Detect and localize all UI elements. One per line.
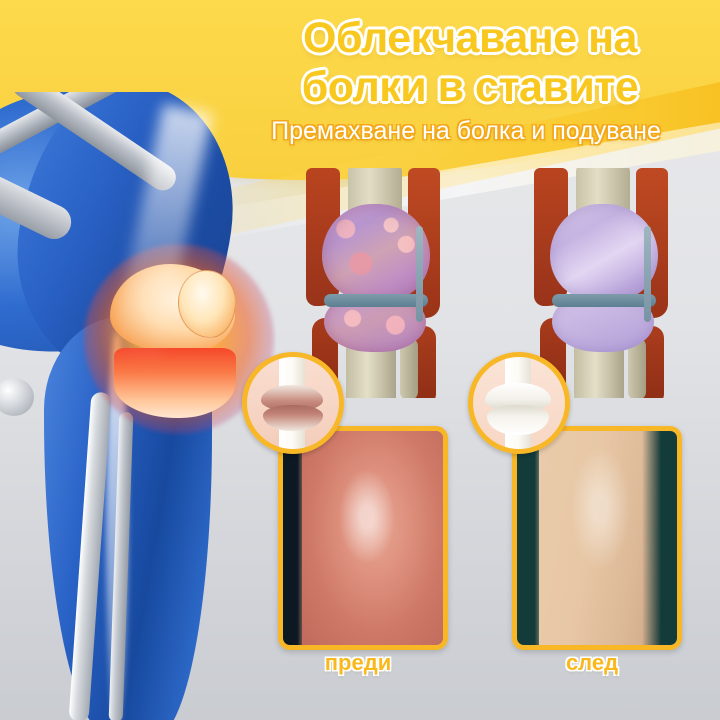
ligament: [416, 226, 423, 322]
meniscus: [324, 294, 428, 307]
joint-ball: [0, 378, 34, 416]
title-line-1: Облекчаване на: [232, 14, 708, 63]
photo-shadow: [642, 431, 677, 645]
page-subtitle: Премахване на болка и подуване: [212, 116, 720, 146]
swollen-red-knee-photo: [278, 426, 448, 650]
joint-capsule-healthy: [550, 204, 658, 300]
label-after: след: [512, 650, 672, 676]
patella-bone: [178, 270, 236, 338]
cartilage-lower-damaged: [263, 405, 323, 431]
inflamed-cartilage-diagram: [242, 352, 344, 454]
knee-pain-anatomy-illustration: [0, 92, 276, 720]
page-title: Облекчаване на болки в ставите: [232, 14, 708, 112]
title-line-2: болки в ставите: [232, 63, 708, 112]
ligament: [644, 226, 651, 322]
label-before: преди: [278, 650, 438, 676]
cartilage-lower-healthy: [487, 405, 549, 435]
normal-knee-photo: [512, 426, 682, 650]
knee-skin-inflamed: [302, 431, 443, 645]
meniscus: [552, 294, 656, 307]
advertisement-canvas: Облекчаване на болки в ставите Премахван…: [0, 0, 720, 720]
joint-capsule-inflamed: [322, 204, 430, 300]
healthy-cartilage-diagram: [468, 352, 570, 454]
